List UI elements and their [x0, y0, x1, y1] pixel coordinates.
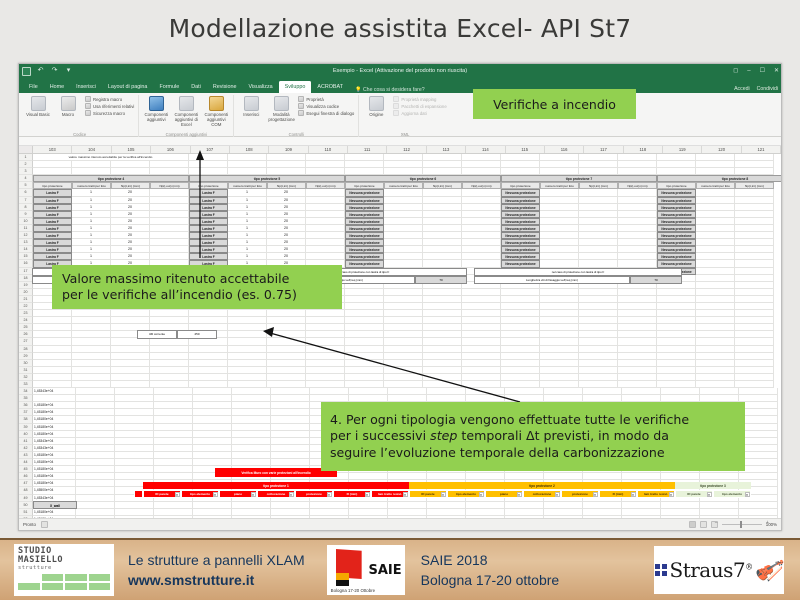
grid-cell[interactable] — [271, 445, 310, 452]
grid-cell[interactable] — [228, 168, 267, 175]
grid-cell[interactable] — [193, 402, 232, 409]
grid-cell[interactable] — [462, 360, 501, 367]
grid-cell[interactable]: Nessuna protezione — [657, 232, 696, 239]
row-header-32[interactable]: 32 — [19, 374, 33, 381]
column-header-103[interactable]: 103 — [33, 146, 72, 153]
grid-cell[interactable] — [306, 317, 345, 324]
grid-cell[interactable] — [579, 225, 618, 232]
grid-cell[interactable] — [384, 211, 423, 218]
grid-cell[interactable] — [462, 289, 501, 296]
grid-cell[interactable] — [271, 388, 310, 395]
grid-cell[interactable] — [193, 445, 232, 452]
grid-cell[interactable] — [501, 374, 540, 381]
grid-cell[interactable]: Lastra F — [33, 211, 72, 218]
grid-cell[interactable] — [384, 232, 423, 239]
grid-cell[interactable]: 1,45180e+04 — [33, 452, 76, 459]
grid-cell[interactable] — [735, 246, 774, 253]
filter-dropdown-icon[interactable]: ▾ — [555, 492, 560, 497]
grid-cell[interactable] — [622, 530, 661, 531]
grid-cell[interactable]: Nessuna protezione — [345, 225, 384, 232]
row-header-12[interactable]: 12 — [19, 232, 33, 239]
column-header-111[interactable]: 111 — [348, 146, 387, 153]
grid-cell[interactable] — [501, 367, 540, 374]
row-header-28[interactable]: 28 — [19, 346, 33, 353]
grid-cell[interactable] — [423, 296, 462, 303]
grid-row[interactable]: 10Lastra F120Lastra F120Nessuna protezio… — [19, 218, 781, 225]
zoom-slider-knob[interactable] — [740, 521, 742, 528]
tab-home[interactable]: Home — [44, 81, 70, 93]
grid-cell[interactable] — [306, 338, 345, 345]
grid-cell[interactable]: 1,45180e+04 — [33, 409, 76, 416]
grid-cell[interactable] — [540, 346, 579, 353]
grid-cell[interactable] — [388, 502, 427, 509]
run-dialog-button[interactable]: Esegui finestra di dialogo — [298, 110, 354, 116]
grid-cell[interactable]: 20 — [267, 211, 306, 218]
grid-cell[interactable] — [150, 367, 189, 374]
grid-cell[interactable]: Nessuna protezione — [345, 197, 384, 204]
grid-cell[interactable]: Nessuna protezione — [345, 204, 384, 211]
tab-layout-di-pagina[interactable]: Layout di pagina — [102, 81, 154, 93]
grid-cell[interactable]: Nessuna protezione — [657, 204, 696, 211]
grid-cell[interactable] — [501, 331, 540, 338]
grid-row[interactable]: 2 — [19, 161, 781, 168]
grid-cell[interactable] — [579, 154, 618, 161]
grid-cell[interactable]: 1 — [228, 211, 267, 218]
grid-cell[interactable] — [189, 161, 228, 168]
grid-cell[interactable] — [154, 409, 193, 416]
grid-cell[interactable] — [462, 317, 501, 324]
insert-control-button[interactable]: Inserisci — [238, 95, 264, 117]
grid-cell[interactable] — [267, 310, 306, 317]
grid-cell[interactable] — [72, 346, 111, 353]
grid-row[interactable]: 8Lastra F120Lastra F120Nessuna protezion… — [19, 204, 781, 211]
tab-acrobat[interactable]: ACROBAT — [311, 81, 349, 93]
grid-cell[interactable]: 20 — [267, 189, 306, 196]
grid-cell[interactable] — [271, 409, 310, 416]
grid-cell[interactable] — [345, 367, 384, 374]
grid-cell[interactable] — [661, 530, 700, 531]
row-header-40[interactable]: 40 — [19, 431, 33, 438]
grid-cell[interactable] — [306, 218, 345, 225]
grid-cell[interactable] — [115, 402, 154, 409]
row-header-38[interactable]: 38 — [19, 416, 33, 423]
grid-cell[interactable] — [345, 168, 384, 175]
grid-cell[interactable] — [76, 530, 115, 531]
grid-cell[interactable]: Nessuna protezione — [345, 211, 384, 218]
grid-cell[interactable] — [388, 473, 427, 480]
grid-cell[interactable]: Nessuna protezione — [657, 253, 696, 260]
grid-row[interactable]: 6Lastra F120Lastra F120Nessuna protezion… — [19, 189, 781, 196]
grid-cell[interactable] — [232, 431, 271, 438]
grid-cell[interactable] — [76, 402, 115, 409]
grid-cell[interactable] — [154, 431, 193, 438]
grid-cell[interactable] — [696, 189, 735, 196]
grid-cell[interactable] — [345, 338, 384, 345]
grid-cell[interactable] — [150, 346, 189, 353]
table-column-header[interactable]: piano▾ — [219, 490, 257, 498]
grid-cell[interactable] — [423, 289, 462, 296]
grid-cell[interactable] — [540, 338, 579, 345]
grid-cell[interactable] — [657, 324, 696, 331]
grid-cell[interactable] — [150, 360, 189, 367]
grid-cell[interactable] — [267, 161, 306, 168]
grid-cell[interactable] — [115, 502, 154, 509]
grid-cell[interactable]: Lastra F — [189, 232, 228, 239]
grid-cell[interactable] — [267, 374, 306, 381]
grid-cell[interactable] — [154, 502, 193, 509]
grid-cell[interactable]: 20 — [111, 239, 150, 246]
grid-cell[interactable] — [228, 346, 267, 353]
grid-cell[interactable]: Nessuna protezione — [345, 260, 384, 267]
grid-cell[interactable] — [76, 445, 115, 452]
grid-cell[interactable] — [427, 388, 466, 395]
grid-cell[interactable] — [384, 317, 423, 324]
grid-cell[interactable] — [427, 502, 466, 509]
refresh-data-button[interactable]: Aggiorna dati — [393, 110, 446, 116]
column-header-121[interactable]: 121 — [742, 146, 781, 153]
grid-cell[interactable]: 1 — [72, 197, 111, 204]
grid-cell[interactable]: Lastra F — [189, 204, 228, 211]
grid-cell[interactable]: Np(t,ini) (mm) — [111, 182, 150, 189]
grid-cell[interactable] — [115, 431, 154, 438]
grid-cell[interactable] — [462, 260, 501, 267]
grid-cell[interactable] — [267, 338, 306, 345]
grid-cell[interactable] — [696, 353, 735, 360]
grid-cell[interactable] — [501, 310, 540, 317]
grid-cell[interactable]: Np(t,out) (mm) — [306, 182, 345, 189]
grid-cell[interactable] — [267, 360, 306, 367]
grid-cell[interactable] — [579, 161, 618, 168]
grid-cell[interactable] — [661, 388, 700, 395]
grid-cell[interactable] — [579, 197, 618, 204]
grid-cell[interactable]: 1 — [228, 246, 267, 253]
grid-cell[interactable] — [657, 289, 696, 296]
screw-block-value[interactable]: 70 — [630, 276, 682, 284]
grid-cell[interactable] — [462, 381, 501, 388]
grid-cell[interactable] — [228, 331, 267, 338]
grid-cell[interactable] — [271, 416, 310, 423]
grid-cell[interactable] — [267, 353, 306, 360]
grid-cell[interactable] — [618, 211, 657, 218]
grid-row[interactable]: 15Lastra F120Lastra F120Nessuna protezio… — [19, 253, 781, 260]
grid-cell[interactable] — [696, 161, 735, 168]
grid-cell[interactable] — [189, 367, 228, 374]
column-header-117[interactable]: 117 — [584, 146, 623, 153]
grid-cell[interactable] — [271, 438, 310, 445]
row-header-29[interactable]: 29 — [19, 353, 33, 360]
grid-cell[interactable] — [150, 232, 189, 239]
grid-cell[interactable]: 20 — [267, 239, 306, 246]
grid-cell[interactable]: 20 — [111, 225, 150, 232]
grid-cell[interactable]: tipo protezione 8 — [657, 175, 781, 182]
grid-cell[interactable] — [384, 218, 423, 225]
grid-cell[interactable]: 1,45180e+04 — [33, 480, 76, 487]
grid-cell[interactable] — [618, 381, 657, 388]
tab-revisione[interactable]: Revisione — [207, 81, 243, 93]
grid-cell[interactable]: 1 — [72, 232, 111, 239]
grid-cell[interactable] — [267, 154, 306, 161]
row-header-24[interactable]: 24 — [19, 317, 33, 324]
grid-cell[interactable] — [505, 388, 544, 395]
grid-cell[interactable] — [384, 246, 423, 253]
grid-cell[interactable] — [189, 338, 228, 345]
grid-cell[interactable]: 1 — [228, 253, 267, 260]
grid-cell[interactable]: 20 — [267, 225, 306, 232]
grid-row[interactable]: 541,45180e+04 — [19, 530, 781, 531]
grid-cell[interactable] — [501, 317, 540, 324]
grid-cell[interactable] — [150, 246, 189, 253]
grid-cell[interactable] — [267, 324, 306, 331]
grid-cell[interactable] — [232, 530, 271, 531]
grid-cell[interactable] — [579, 310, 618, 317]
grid-cell[interactable]: Lastra F — [33, 189, 72, 196]
grid-cell[interactable] — [696, 346, 735, 353]
grid-cell[interactable] — [622, 502, 661, 509]
grid-cell[interactable] — [618, 303, 657, 310]
grid-cell[interactable]: 1 — [72, 204, 111, 211]
grid-cell[interactable] — [540, 197, 579, 204]
grid-cell[interactable] — [150, 239, 189, 246]
grid-cell[interactable] — [228, 161, 267, 168]
grid-row[interactable]: 5tipo protezionenumero tratti per fotoNp… — [19, 182, 781, 189]
grid-cell[interactable] — [115, 530, 154, 531]
grid-cell[interactable] — [345, 360, 384, 367]
grid-cell[interactable] — [115, 509, 154, 516]
grid-cell[interactable] — [310, 509, 349, 516]
grid-cell[interactable] — [423, 161, 462, 168]
grid-cell[interactable] — [423, 374, 462, 381]
filter-dropdown-icon[interactable]: ▾ — [707, 492, 712, 497]
column-header-104[interactable]: 104 — [72, 146, 111, 153]
grid-cell[interactable] — [735, 338, 774, 345]
row-header-51[interactable]: 51 — [19, 509, 33, 516]
grid-cell[interactable] — [579, 232, 618, 239]
grid-cell[interactable] — [696, 381, 735, 388]
grid-cell[interactable]: 20 — [267, 246, 306, 253]
row-header-48[interactable]: 48 — [19, 487, 33, 494]
grid-cell[interactable] — [462, 189, 501, 196]
grid-cell[interactable]: 1 — [72, 246, 111, 253]
grid-row[interactable]: 28 — [19, 346, 781, 353]
grid-cell[interactable] — [579, 289, 618, 296]
filter-dropdown-icon[interactable]: ▾ — [669, 492, 674, 497]
grid-cell[interactable]: 20 — [111, 246, 150, 253]
table-row-filter-cell[interactable] — [134, 490, 143, 498]
row-header-4[interactable]: 4 — [19, 175, 33, 182]
grid-cell[interactable] — [76, 459, 115, 466]
grid-cell[interactable] — [618, 204, 657, 211]
column-header-115[interactable]: 115 — [506, 146, 545, 153]
grid-cell[interactable] — [349, 502, 388, 509]
grid-cell[interactable] — [700, 530, 739, 531]
grid-cell[interactable]: Lastra F — [33, 246, 72, 253]
grid-cell[interactable] — [384, 289, 423, 296]
grid-cell[interactable] — [423, 168, 462, 175]
grid-cell[interactable] — [232, 409, 271, 416]
ribbon-tabs[interactable]: File Home Inserisci Layout di pagina For… — [19, 79, 781, 93]
table-column-header[interactable]: R (min)▾ — [333, 490, 371, 498]
grid-cell[interactable] — [657, 338, 696, 345]
grid-cell[interactable] — [544, 509, 583, 516]
grid-cell[interactable] — [466, 388, 505, 395]
grid-cell[interactable] — [739, 530, 778, 531]
grid-cell[interactable] — [76, 487, 115, 494]
grid-cell[interactable] — [696, 303, 735, 310]
grid-cell[interactable]: Nessuna protezione — [501, 218, 540, 225]
grid-cell[interactable] — [306, 353, 345, 360]
grid-cell[interactable] — [76, 509, 115, 516]
grid-cell[interactable] — [696, 246, 735, 253]
row-header-42[interactable]: 42 — [19, 445, 33, 452]
grid-cell[interactable] — [696, 197, 735, 204]
grid-cell[interactable]: Lastra F — [33, 253, 72, 260]
grid-cell[interactable] — [345, 303, 384, 310]
grid-cell[interactable] — [33, 161, 72, 168]
grid-cell[interactable] — [657, 154, 696, 161]
relative-refs-button[interactable]: Usa riferimenti relativi — [85, 103, 134, 109]
grid-cell[interactable] — [228, 367, 267, 374]
grid-cell[interactable] — [384, 303, 423, 310]
row-header-47[interactable]: 47 — [19, 480, 33, 487]
xml-source-button[interactable]: Origine — [363, 95, 389, 117]
grid-cell[interactable] — [466, 502, 505, 509]
grid-cell[interactable] — [735, 232, 774, 239]
grid-cell[interactable] — [271, 424, 310, 431]
grid-cell[interactable] — [306, 374, 345, 381]
grid-cell[interactable] — [306, 346, 345, 353]
filter-dropdown-icon[interactable]: ▾ — [631, 492, 636, 497]
grid-cell[interactable] — [540, 218, 579, 225]
grid-cell[interactable] — [388, 509, 427, 516]
grid-cell[interactable] — [540, 253, 579, 260]
grid-cell[interactable] — [423, 260, 462, 267]
grid-cell[interactable] — [579, 260, 618, 267]
grid-cell[interactable]: tipo protezione 6 — [345, 175, 501, 182]
filter-dropdown-icon[interactable]: ▾ — [289, 492, 294, 497]
grid-row[interactable]: 29 — [19, 353, 781, 360]
table-column-header[interactable]: R (min)▾ — [599, 490, 637, 498]
grid-cell[interactable]: Lastra F — [189, 253, 228, 260]
grid-cell[interactable]: Lastra F — [33, 218, 72, 225]
grid-cell[interactable] — [33, 367, 72, 374]
grid-cell[interactable] — [154, 424, 193, 431]
grid-cell[interactable] — [501, 381, 540, 388]
grid-cell[interactable]: 20 — [111, 218, 150, 225]
grid-cell[interactable] — [271, 509, 310, 516]
grid-cell[interactable] — [76, 473, 115, 480]
excel-addins-button[interactable]: Componenti aggiuntivi di Excel — [173, 95, 199, 127]
grid-body[interactable]: 1valore massimo ritenuto accettabile per… — [19, 154, 781, 531]
grid-row[interactable]: 7Lastra F120Lastra F120Nessuna protezion… — [19, 197, 781, 204]
grid-cell[interactable] — [384, 353, 423, 360]
grid-cell[interactable] — [618, 260, 657, 267]
grid-cell[interactable]: Nessuna protezione — [657, 197, 696, 204]
row-header-34[interactable]: 34 — [19, 388, 33, 395]
grid-cell[interactable]: Nessuna protezione — [657, 225, 696, 232]
grid-cell[interactable] — [739, 473, 778, 480]
grid-cell[interactable] — [423, 303, 462, 310]
grid-cell[interactable] — [189, 374, 228, 381]
grid-row[interactable]: 31 — [19, 367, 781, 374]
table-filter-row-1[interactable]: ID parete▾tipo elemento▾piano▾collocazio… — [143, 490, 409, 498]
grid-cell[interactable] — [115, 388, 154, 395]
grid-cell[interactable] — [228, 324, 267, 331]
grid-row[interactable]: 4tipo protezione 4tipo protezione 5tipo … — [19, 175, 781, 182]
grid-cell[interactable] — [579, 346, 618, 353]
grid-cell[interactable] — [271, 502, 310, 509]
row-header-46[interactable]: 46 — [19, 473, 33, 480]
grid-cell[interactable] — [462, 225, 501, 232]
grid-cell[interactable] — [423, 253, 462, 260]
grid-cell[interactable]: Nessuna protezione — [501, 189, 540, 196]
grid-cell[interactable] — [384, 154, 423, 161]
grid-cell[interactable] — [228, 374, 267, 381]
grid-cell[interactable] — [232, 402, 271, 409]
filter-dropdown-icon[interactable]: ▾ — [251, 492, 256, 497]
grid-cell[interactable] — [306, 253, 345, 260]
grid-cell[interactable] — [388, 388, 427, 395]
grid-cell[interactable] — [232, 459, 271, 466]
grid-cell[interactable] — [228, 381, 267, 388]
zoom-in-icon[interactable]: + — [766, 520, 769, 526]
grid-cell[interactable] — [462, 154, 501, 161]
grid-cell[interactable] — [193, 388, 232, 395]
row-header-25[interactable]: 25 — [19, 324, 33, 331]
grid-cell[interactable] — [267, 317, 306, 324]
grid-cell[interactable] — [111, 338, 150, 345]
grid-cell[interactable] — [349, 509, 388, 516]
grid-cell[interactable] — [583, 388, 622, 395]
grid-cell[interactable]: 1,45180e+04 — [33, 402, 76, 409]
grid-cell[interactable] — [33, 346, 72, 353]
grid-cell[interactable] — [115, 459, 154, 466]
grid-cell[interactable] — [423, 331, 462, 338]
grid-cell[interactable] — [193, 409, 232, 416]
grid-cell[interactable] — [154, 466, 193, 473]
grid-cell[interactable]: 20 — [267, 197, 306, 204]
grid-cell[interactable] — [423, 324, 462, 331]
grid-cell[interactable]: Nessuna protezione — [657, 189, 696, 196]
filter-dropdown-icon[interactable]: ▾ — [441, 492, 446, 497]
grid-cell[interactable] — [150, 197, 189, 204]
column-header-107[interactable]: 107 — [191, 146, 230, 153]
grid-cell[interactable] — [76, 466, 115, 473]
share-button[interactable]: Condividi — [757, 86, 778, 92]
grid-cell[interactable] — [423, 317, 462, 324]
grid-cell[interactable] — [154, 473, 193, 480]
grid-cell[interactable]: 1,45180e+04 — [33, 424, 76, 431]
grid-cell[interactable] — [345, 161, 384, 168]
grid-cell[interactable] — [735, 211, 774, 218]
grid-cell[interactable]: 1,45500e+04 — [33, 487, 76, 494]
grid-cell[interactable]: 20 — [111, 253, 150, 260]
grid-cell[interactable] — [423, 310, 462, 317]
grid-cell[interactable]: Np(t,out) (mm) — [618, 182, 657, 189]
grid-cell[interactable] — [579, 317, 618, 324]
table-column-header[interactable]: ID parete▾ — [143, 490, 181, 498]
grid-cell[interactable] — [193, 416, 232, 423]
grid-cell[interactable] — [306, 360, 345, 367]
tab-sviluppo[interactable]: Sviluppo — [279, 81, 312, 93]
table-column-header[interactable]: collocazione▾ — [257, 490, 295, 498]
grid-cell[interactable] — [154, 416, 193, 423]
row-header-45[interactable]: 45 — [19, 466, 33, 473]
grid-cell[interactable] — [540, 317, 579, 324]
grid-cell[interactable]: Np(t,ini) (mm) — [735, 182, 774, 189]
grid-cell[interactable]: 1,45180e+04 — [33, 431, 76, 438]
row-header-37[interactable]: 37 — [19, 409, 33, 416]
grid-cell[interactable] — [618, 239, 657, 246]
